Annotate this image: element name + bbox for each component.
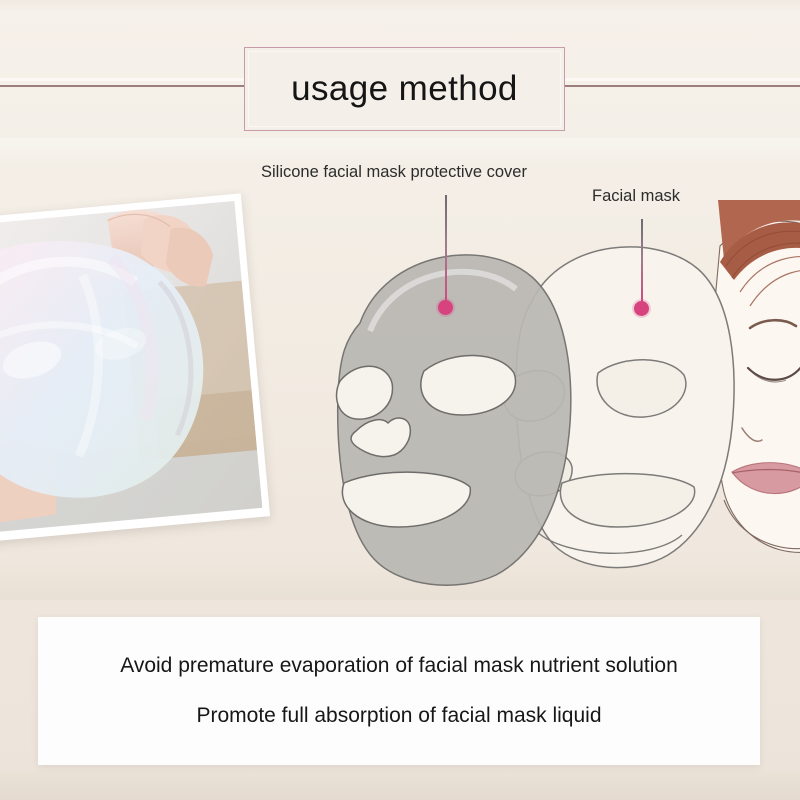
background-band-bottom: [0, 770, 800, 800]
callout-dot-silicone-cover: [438, 300, 453, 315]
background-band-mid: [0, 138, 800, 164]
usage-method-infographic: usage method Silicone facial mask protec…: [0, 0, 800, 800]
callout-leader-line-facial-mask: [641, 219, 643, 308]
benefits-card: Avoid premature evaporation of facial ma…: [38, 617, 760, 765]
callout-label-silicone-cover: Silicone facial mask protective cover: [261, 163, 527, 182]
page-title: usage method: [291, 69, 518, 109]
callout-label-facial-mask: Facial mask: [592, 187, 680, 206]
page-title-box: usage method: [244, 47, 565, 131]
callout-dot-facial-mask: [634, 301, 649, 316]
background-band-top: [0, 0, 800, 14]
callout-leader-line-silicone-cover: [445, 195, 447, 307]
silicone-cover-mask: [337, 255, 571, 585]
header-rule-left: [0, 85, 246, 87]
benefit-line-2: Promote full absorption of facial mask l…: [196, 704, 601, 728]
product-photo: [0, 201, 262, 533]
product-photo-card: [0, 193, 270, 542]
mask-illustrations: [300, 215, 770, 595]
benefit-line-1: Avoid premature evaporation of facial ma…: [120, 654, 678, 678]
header-rule-right: [561, 85, 800, 87]
